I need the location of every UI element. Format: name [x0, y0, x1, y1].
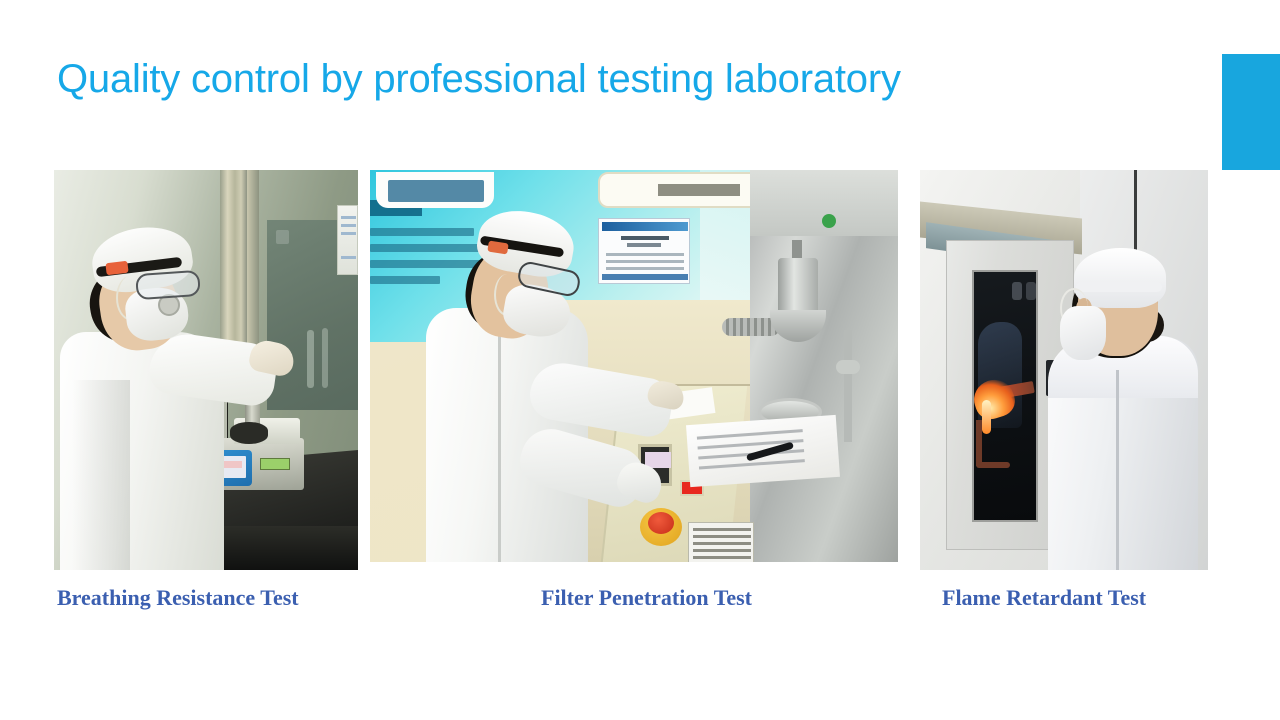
steel-pillar-edge: [247, 170, 259, 352]
window-reflection-light: [1012, 282, 1022, 300]
board-text-line: [370, 244, 480, 252]
wall-poster: [337, 205, 358, 275]
labcoat-fold: [1116, 370, 1119, 570]
photo-breathing-resistance-test: [54, 170, 358, 570]
cap-rim: [1076, 282, 1162, 292]
burner-tube: [976, 420, 982, 466]
emergency-stop-button[interactable]: [640, 508, 682, 546]
photo-2-scene: [370, 170, 898, 562]
photo-1-scene: [54, 170, 358, 570]
stainless-machine-frame: [750, 230, 898, 562]
pipe-valve: [836, 360, 860, 374]
slide-canvas: Quality control by professional testing …: [0, 0, 1280, 720]
certificate-poster: [598, 218, 690, 284]
labcoat-shading: [72, 380, 130, 570]
face-mask: [1060, 306, 1106, 360]
tester-clamp-head: [230, 422, 268, 444]
accent-block: [1222, 54, 1280, 170]
test-head-cylinder: [778, 258, 818, 316]
glass-tube-2: [322, 328, 328, 388]
glass-highlight: [276, 230, 289, 244]
board-header-text: [388, 180, 484, 202]
tester-indicator-strip: [260, 458, 290, 470]
caption-flame-retardant-test: Flame Retardant Test: [942, 585, 1146, 611]
board-text-line: [370, 260, 486, 268]
caption-filter-penetration-test: Filter Penetration Test: [541, 585, 752, 611]
vertical-pipe: [844, 330, 852, 442]
flame-core: [982, 400, 991, 434]
glass-tube: [307, 330, 314, 388]
board-text-line: [370, 276, 440, 284]
burner-base: [976, 462, 1010, 468]
green-knob: [822, 214, 836, 228]
photo-filter-penetration-test: [370, 170, 898, 562]
steel-pillar: [220, 170, 247, 345]
caption-breathing-resistance-test: Breathing Resistance Test: [57, 585, 299, 611]
labcoat-fold: [498, 320, 501, 562]
machine-nameplate: [688, 522, 754, 562]
page-title: Quality control by professional testing …: [57, 57, 1057, 102]
board-text-line: [370, 228, 474, 236]
photo-flame-retardant-test: [920, 170, 1208, 570]
board-header-tab: [376, 172, 494, 208]
window-reflection-light-2: [1026, 282, 1036, 300]
photo-3-scene: [920, 170, 1208, 570]
wall-sign-frame: [598, 172, 764, 208]
safety-goggles: [135, 270, 201, 300]
